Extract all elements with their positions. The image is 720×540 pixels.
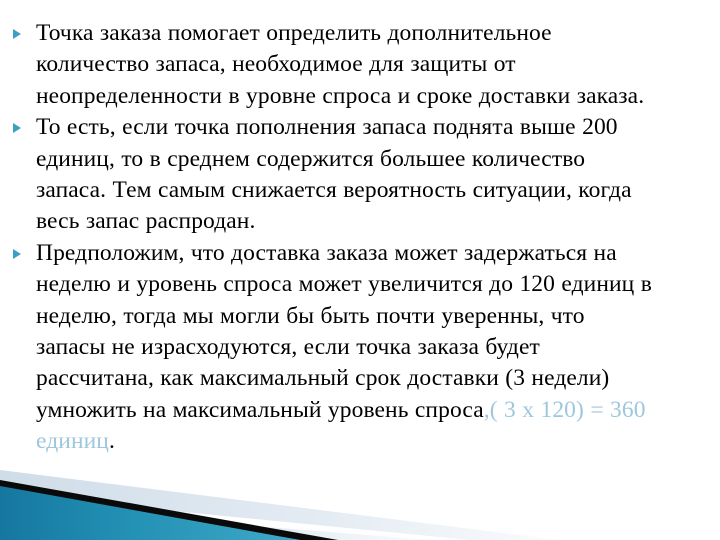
decoration-pale-wedge	[0, 506, 432, 540]
bullet-text-3: Предположим, что доставка заказа может з…	[36, 238, 660, 458]
bullet-text-3-tail: .	[109, 428, 115, 454]
list-item: Предположим, что доставка заказа может з…	[0, 238, 720, 458]
bullet-text-2: То есть, если точка пополнения запаса по…	[36, 112, 660, 238]
bullet-text-1: Точка заказа помогает определить дополни…	[36, 18, 660, 112]
triangle-bullet-icon	[13, 29, 21, 39]
list-item: То есть, если точка пополнения запаса по…	[0, 112, 720, 238]
decoration-pale-wedge-upper	[0, 470, 560, 540]
decoration-black-stripe	[0, 480, 338, 540]
list-item: Точка заказа помогает определить дополни…	[0, 18, 720, 112]
presentation-slide: Точка заказа помогает определить дополни…	[0, 0, 720, 540]
triangle-bullet-icon	[13, 123, 21, 133]
bullet-text-3-lead: Предположим, что доставка заказа может з…	[36, 240, 652, 423]
slide-body-content: Точка заказа помогает определить дополни…	[0, 18, 720, 458]
triangle-bullet-icon	[13, 249, 21, 259]
decoration-teal-wedge	[0, 486, 300, 540]
